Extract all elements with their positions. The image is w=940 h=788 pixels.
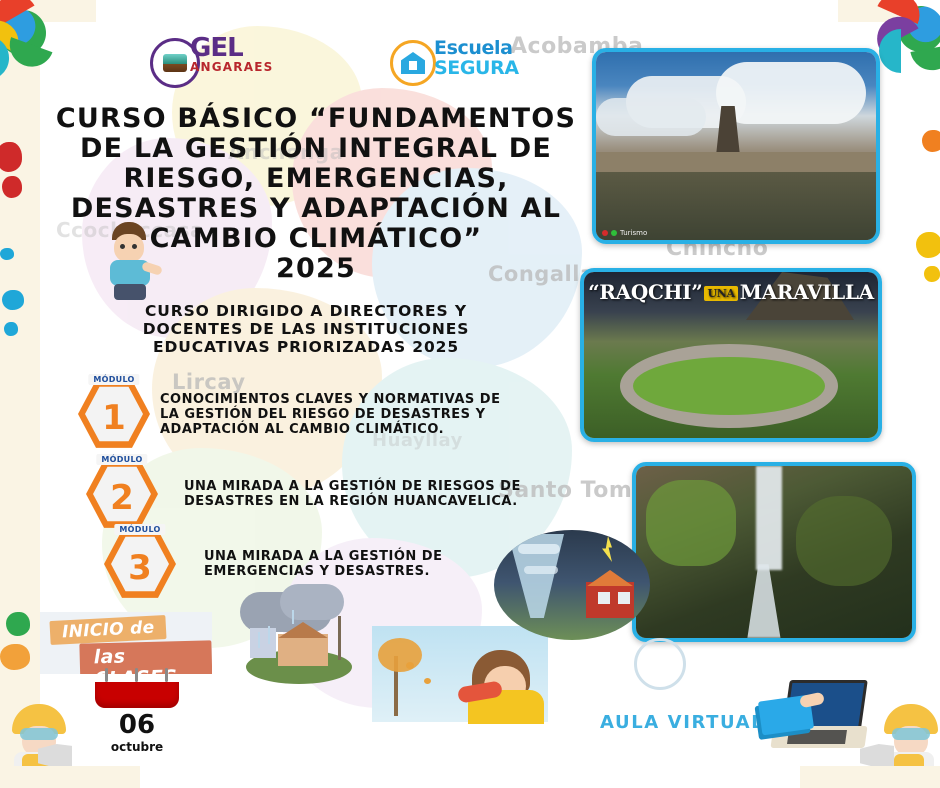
hands-globe-logo-top-left — [0, 0, 78, 88]
poster-subtitle: CURSO DIRIGIDO A DIRECTORES Y DOCENTES D… — [88, 302, 524, 356]
module-3-description: UNA MIRADA A LA GESTIÓN DE EMERGENCIAS Y… — [204, 549, 442, 579]
storm-house-illustration — [222, 592, 372, 698]
raqchi-ruins-photo: “RAQCHI”UNAMARAVILLA — [580, 268, 882, 442]
title-line-2: DE LA GESTIÓN INTEGRAL DE — [46, 134, 586, 164]
volleyball-icon — [634, 638, 686, 690]
paint-splatter-yellow-right — [916, 232, 940, 258]
paint-splatter-blue-left-3 — [4, 322, 18, 336]
raqchi-photo-caption: “RAQCHI”UNAMARAVILLA — [584, 280, 878, 304]
start-date-calendar: 06 octubre — [95, 668, 179, 754]
subtitle-line-3: EDUCATIVAS PRIORIZADAS 2025 — [88, 338, 524, 356]
module-1-description: CONOCIMIENTOS CLAVES Y NORMATIVAS DE LA … — [160, 392, 500, 437]
module-2-description: UNA MIRADA A LA GESTIÓN DE RIESGOS DE DE… — [184, 479, 521, 509]
waterfall-photo — [632, 462, 916, 642]
tornado-disaster-illustration — [494, 530, 650, 640]
paint-splatter-blue-left — [0, 248, 14, 260]
module-2-line-2: DESASTRES EN LA REGIÓN HUANCAVELICA. — [184, 494, 521, 509]
school-house-icon — [401, 52, 425, 74]
paint-splatter-red-left-2 — [2, 176, 22, 198]
module-item-2: 2 MÓDULO UNA MIRADA A LA GESTIÓN DE RIES… — [86, 458, 521, 530]
megaphone-icon — [860, 744, 894, 768]
module-2-badge: 2 MÓDULO — [86, 458, 158, 530]
module-item-3: 3 MÓDULO UNA MIRADA A LA GESTIÓN DE EMER… — [104, 528, 442, 600]
calendar-month: octubre — [95, 740, 179, 754]
module-2-number: 2 — [110, 473, 134, 515]
photo-watermark-text: Turismo — [620, 229, 647, 237]
subtitle-line-1: CURSO DIRIGIDO A DIRECTORES Y — [88, 302, 524, 320]
paint-splatter-blue-left-2 — [2, 290, 24, 310]
cream-bottom-right-notch — [800, 766, 940, 788]
paint-splatter-orange-bottom-left — [0, 644, 30, 670]
paint-splatter-red-left — [0, 142, 22, 172]
ugel-logo-text: GEL ANGARAES — [190, 36, 273, 74]
module-2-tag: MÓDULO — [96, 454, 147, 465]
module-2-line-1: UNA MIRADA A LA GESTIÓN DE RIESGOS DE — [184, 479, 521, 494]
raqchi-caption-left: “RAQCHI” — [588, 280, 702, 304]
escuela-segura-ring-icon — [390, 40, 436, 86]
paint-splatter-yellow-right-2 — [924, 266, 940, 282]
goggles-icon — [892, 728, 930, 740]
ugel-logo-line2: ANGARAES — [190, 60, 273, 74]
inicio-clases-banner: INICIO de las CLASES — [40, 612, 212, 674]
calendar-day: 06 — [95, 710, 179, 740]
laptop-book-illustration — [760, 676, 870, 760]
module-3-line-2: EMERGENCIAS Y DESASTRES. — [204, 564, 442, 579]
calendar-rings-icon — [95, 668, 179, 682]
title-line-4: DESASTRES Y ADAPTACIÓN AL — [46, 194, 586, 224]
paint-splatter-orange-right — [922, 130, 940, 152]
paint-splatter-green-bottom-left — [6, 612, 30, 636]
module-3-badge: 3 MÓDULO — [104, 528, 176, 600]
ugel-seal-inner-icon — [163, 54, 187, 72]
subtitle-line-2: DOCENTES DE LAS INSTITUCIONES — [88, 320, 524, 338]
module-item-1: 1 MÓDULO CONOCIMIENTOS CLAVES Y NORMATIV… — [78, 378, 500, 450]
escuela-logo-line2: SEGURA — [434, 58, 519, 78]
title-line-3: RIESGO, EMERGENCIAS, — [46, 164, 586, 194]
module-1-line-3: ADAPTACIÓN AL CAMBIO CLIMÁTICO. — [160, 422, 500, 437]
module-1-tag: MÓDULO — [88, 374, 139, 385]
module-3-number: 3 — [128, 543, 152, 585]
escuela-segura-logo: Escuela SEGURA — [390, 38, 510, 86]
cold-weather-illustration — [372, 626, 548, 722]
boy-pointing-character — [98, 222, 162, 302]
raqchi-caption-right: MARAVILLA — [740, 280, 874, 304]
cream-left-band — [0, 0, 40, 788]
module-1-badge: 1 MÓDULO — [78, 378, 150, 450]
cream-bottom-left-notch — [0, 766, 140, 788]
module-3-line-1: UNA MIRADA A LA GESTIÓN DE — [204, 549, 442, 564]
photo-watermark: Turismo — [602, 229, 647, 237]
module-1-line-1: CONOCIMIENTOS CLAVES Y NORMATIVAS DE — [160, 392, 500, 407]
goggles-icon — [20, 728, 58, 740]
rock-formation-photo: Turismo — [592, 48, 880, 244]
escuela-logo-line1: Escuela — [434, 38, 513, 58]
ugel-logo-line1: GEL — [190, 36, 273, 60]
title-line-1: CURSO BÁSICO “FUNDAMENTOS — [46, 104, 586, 134]
inicio-clases-line1: INICIO de — [49, 615, 167, 645]
poster-canvas: Acobamba Chincho Congalla Lircay Santo T… — [0, 0, 940, 788]
calendar-header-icon — [95, 682, 179, 708]
aula-virtual-label: AULA VIRTUAL — [600, 712, 764, 733]
raqchi-caption-badge: UNA — [704, 286, 737, 301]
module-1-line-2: LA GESTIÓN DEL RIESGO DE DESASTRES Y — [160, 407, 500, 422]
module-1-number: 1 — [102, 393, 126, 435]
megaphone-icon — [38, 744, 72, 768]
module-3-tag: MÓDULO — [114, 524, 165, 535]
ugel-angaraes-logo: GEL ANGARAES — [150, 36, 260, 84]
